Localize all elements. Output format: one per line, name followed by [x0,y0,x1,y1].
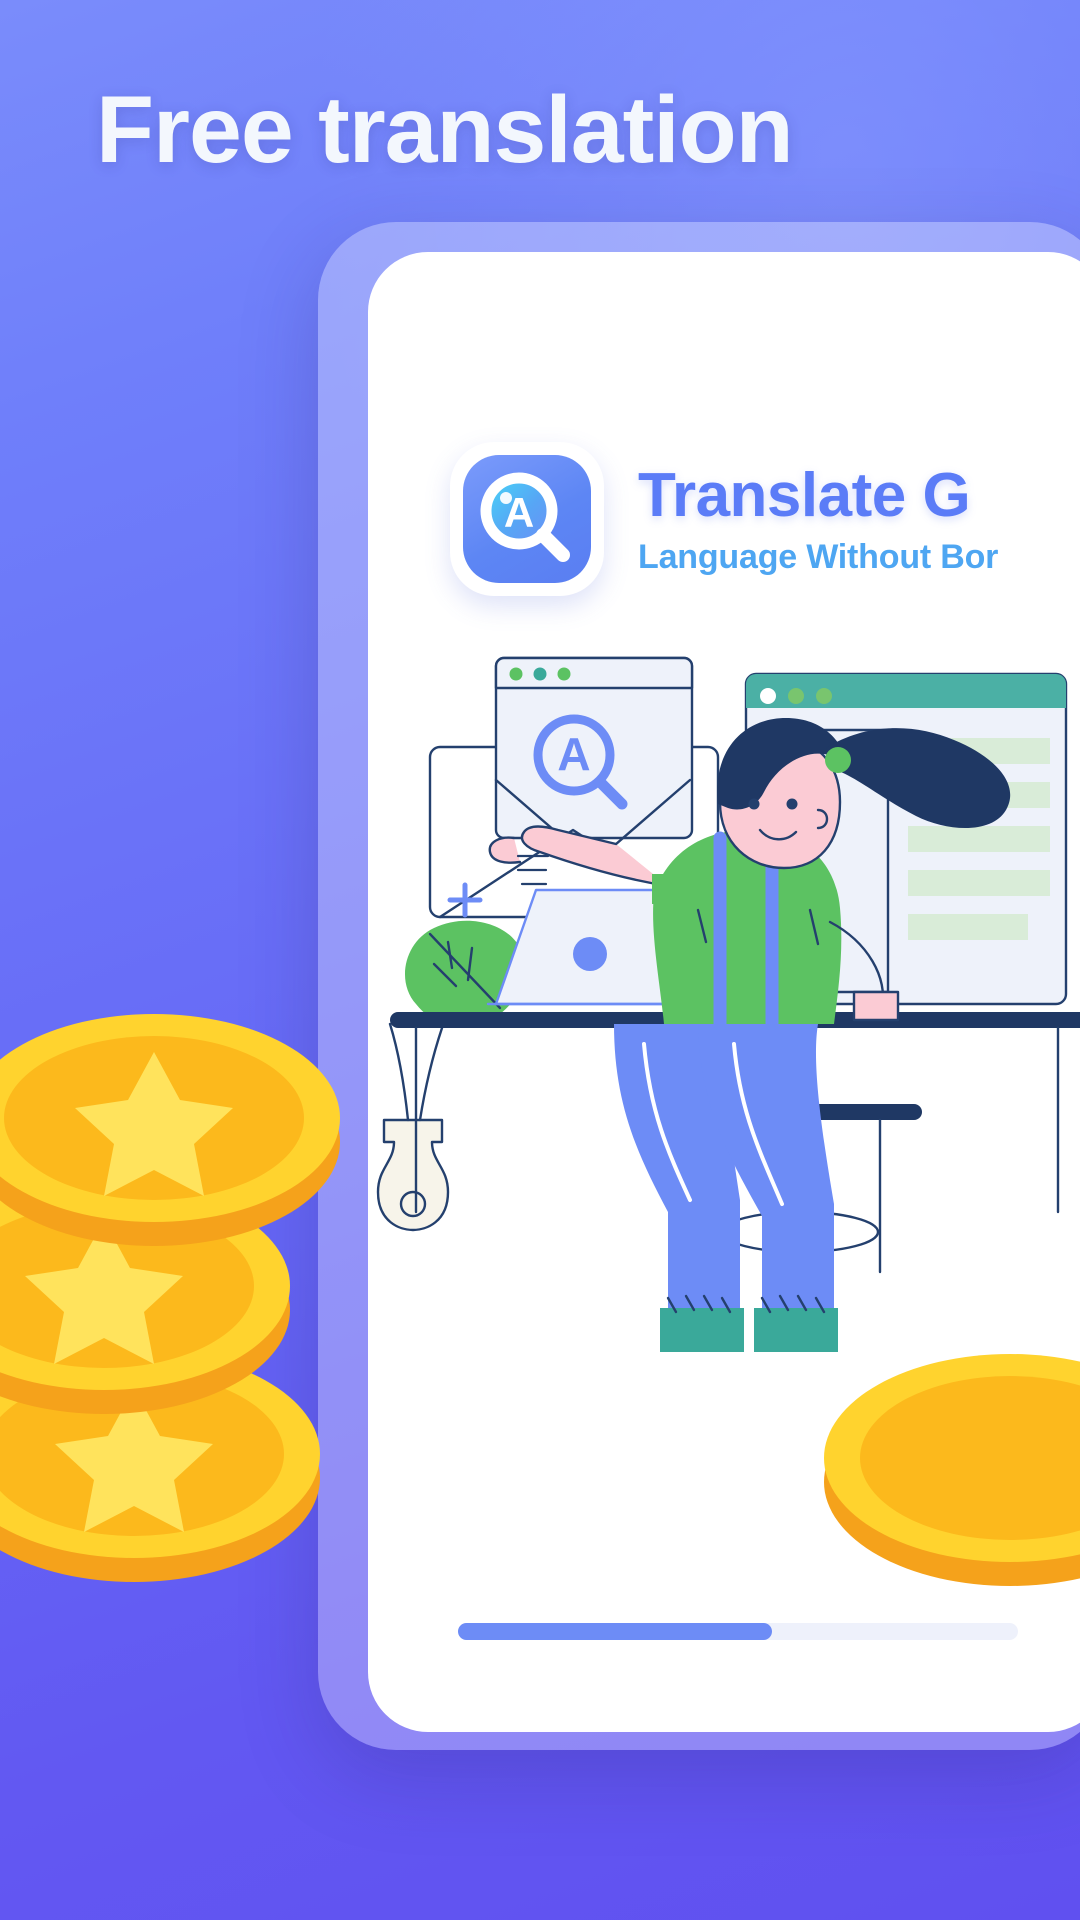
hero-illustration: A [368,652,1080,1352]
vase [378,1024,448,1230]
onboarding-progress-fill [458,1623,772,1640]
brand-subtitle: Language Without Bor [638,536,998,578]
brand-header: A Translate G Language Without Bor [450,442,998,596]
brand-text-block: Translate G Language Without Bor [638,460,998,578]
magnifier-a-icon: A [475,467,579,571]
onboarding-progress-track[interactable] [458,1623,1018,1640]
page-title: Free translation [96,78,1016,182]
translate-app-icon: A [463,455,591,583]
svg-text:A: A [504,489,534,536]
gold-coin [810,1330,1080,1590]
brand-title: Translate G [638,460,998,532]
svg-text:A: A [557,728,590,780]
gold-coin [0,990,354,1250]
app-icon-container: A [450,442,604,596]
